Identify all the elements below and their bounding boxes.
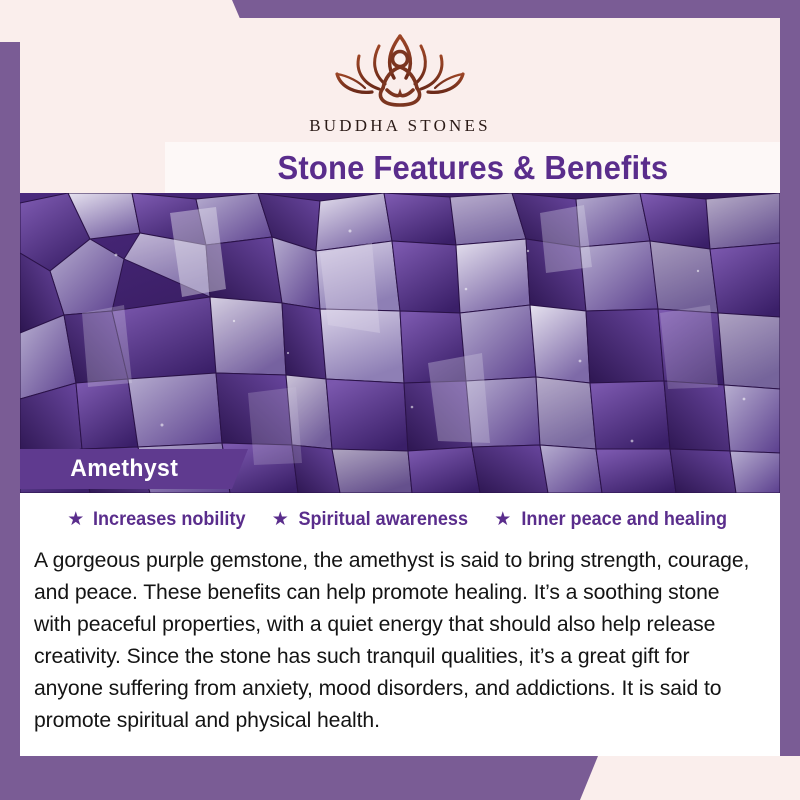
benefits-section: ★ Increases nobility ★ Spiritual awarene…	[20, 493, 780, 736]
stone-description: A gorgeous purple gemstone, the amethyst…	[34, 544, 755, 736]
benefit-list: ★ Increases nobility ★ Spiritual awarene…	[20, 509, 780, 531]
amethyst-crystal-cluster-photo: Amethyst	[20, 193, 780, 493]
lotus-meditation-figure-icon	[315, 26, 485, 114]
benefit-item-inner-peace-and-healing: ★ Inner peace and healing	[494, 509, 733, 531]
title-strip: Stone Features & Benefits	[165, 142, 780, 193]
brand-name: BUDDHA STONES	[309, 116, 491, 136]
star-icon: ★	[494, 510, 511, 529]
poster-frame: BUDDHA STONES Stone Features & Benefits	[0, 0, 800, 800]
frame-notch-bottom-right	[580, 756, 800, 800]
star-icon: ★	[272, 510, 289, 529]
benefit-label: Increases nobility	[93, 509, 245, 531]
benefit-item-increases-nobility: ★ Increases nobility	[67, 509, 250, 531]
brand-logo: BUDDHA STONES	[20, 26, 780, 136]
poster-header: BUDDHA STONES Stone Features & Benefits	[20, 18, 780, 193]
page-title: Stone Features & Benefits	[277, 149, 668, 187]
benefit-label: Spiritual awareness	[298, 509, 468, 531]
star-icon: ★	[67, 510, 84, 529]
stone-name-banner: Amethyst	[20, 449, 248, 489]
benefit-label: Inner peace and healing	[522, 509, 728, 531]
stone-name-label: Amethyst	[70, 455, 178, 483]
benefit-item-spiritual-awareness: ★ Spiritual awareness	[272, 509, 473, 531]
poster-card: BUDDHA STONES Stone Features & Benefits	[20, 18, 780, 756]
